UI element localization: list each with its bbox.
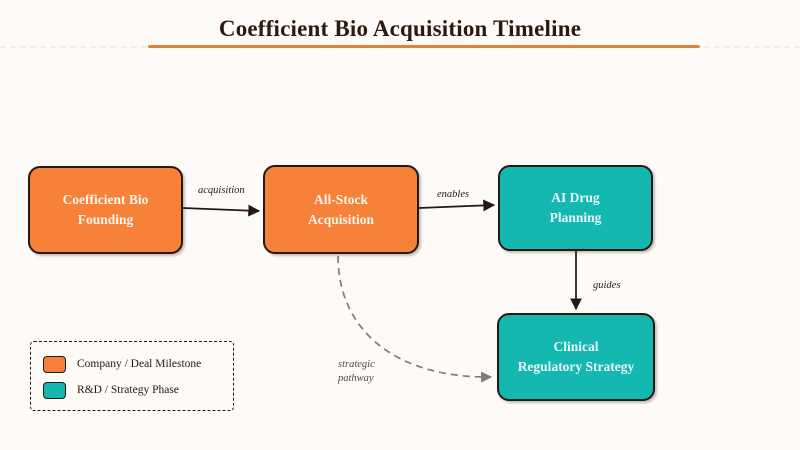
legend-item-label: R&D / Strategy Phase xyxy=(77,384,179,396)
edge-label-acquisition: acquisition xyxy=(198,184,245,198)
node-label: All-Stock Acquisition xyxy=(308,190,374,229)
diagram-canvas: Coefficient Bio Acquisition Timeline Coe… xyxy=(0,0,800,450)
edge-allstock-aidrug xyxy=(419,205,494,208)
edge-label-enables: enables xyxy=(437,188,469,202)
node-label: Coefficient Bio Founding xyxy=(63,190,149,229)
node-coefficient-bio-founding[interactable]: Coefficient Bio Founding xyxy=(28,166,183,254)
page-title: Coefficient Bio Acquisition Timeline xyxy=(0,16,800,42)
legend-item-milestone: Company / Deal Milestone xyxy=(43,351,233,377)
legend-swatch-icon xyxy=(43,356,66,373)
edge-label-guides: guides xyxy=(593,279,620,293)
node-label: AI Drug Planning xyxy=(550,188,602,227)
legend-item-phase: R&D / Strategy Phase xyxy=(43,377,233,403)
legend-swatch-icon xyxy=(43,382,66,399)
node-clinical-regulatory-strategy[interactable]: Clinical Regulatory Strategy xyxy=(497,313,655,401)
node-all-stock-acquisition[interactable]: All-Stock Acquisition xyxy=(263,165,419,254)
title-underline xyxy=(148,45,700,48)
edge-founding-allstock xyxy=(183,208,259,211)
node-label: Clinical Regulatory Strategy xyxy=(518,337,635,376)
node-ai-drug-planning[interactable]: AI Drug Planning xyxy=(498,165,653,251)
legend-item-label: Company / Deal Milestone xyxy=(77,358,201,370)
legend: Company / Deal Milestone R&D / Strategy … xyxy=(30,341,234,411)
edge-label-strategic-pathway: strategic pathway xyxy=(338,358,375,386)
